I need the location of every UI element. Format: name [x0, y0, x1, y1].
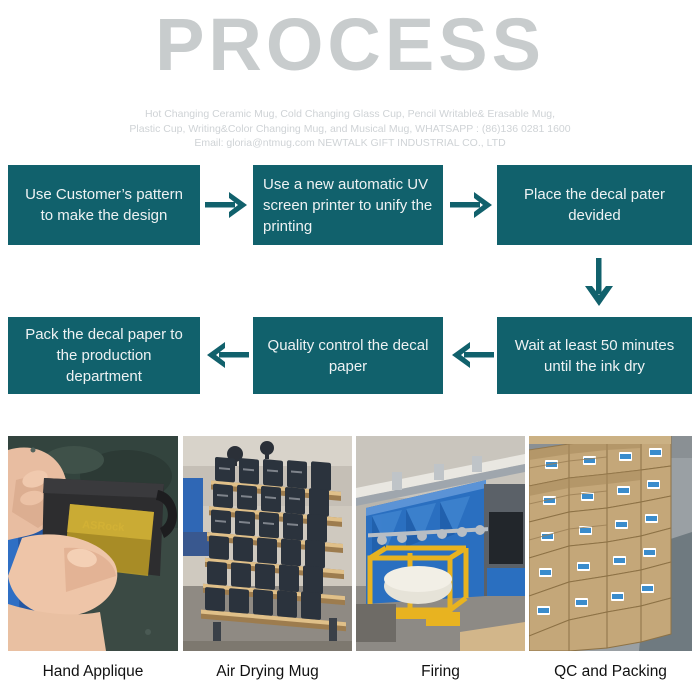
process-step-4-label: Wait at least 50 minutes until the ink d… — [507, 335, 682, 377]
photo-caption-firing: Firing — [356, 660, 525, 684]
process-step-4-box: Wait at least 50 minutes until the ink d… — [497, 317, 692, 394]
photo-air-drying-mug — [183, 436, 352, 651]
contact-info-block: Hot Changing Ceramic Mug, Cold Changing … — [0, 107, 700, 151]
process-step-6-label: Pack the decal paper to the production d… — [18, 324, 190, 387]
contact-products-line-2: Plastic Cup, Writing&Color Changing Mug,… — [0, 122, 700, 137]
contact-email-company-line: Email: gloria@ntmug.com NEWTALK GIFT IND… — [0, 136, 700, 151]
photo-caption-hand-applique: Hand Applique — [8, 660, 178, 684]
photo-caption-qc-and-packing: QC and Packing — [529, 660, 692, 684]
arrow-right-icon — [205, 190, 249, 220]
page-title: PROCESS — [0, 8, 700, 82]
arrow-left-icon — [450, 340, 494, 370]
photo-qc-and-packing — [529, 436, 692, 651]
arrow-left-icon — [205, 340, 249, 370]
process-step-6-box: Pack the decal paper to the production d… — [8, 317, 200, 394]
process-step-3-label: Place the decal pater devided — [507, 184, 682, 226]
photo-caption-air-drying-mug: Air Drying Mug — [183, 660, 352, 684]
process-step-3-box: Place the decal pater devided — [497, 165, 692, 245]
process-step-5-label: Quality control the decal paper — [263, 335, 433, 377]
arrow-down-icon — [582, 258, 616, 308]
process-step-1-box: Use Customer’s pattern to make the desig… — [8, 165, 200, 245]
process-step-1-label: Use Customer’s pattern to make the desig… — [18, 184, 190, 226]
process-step-2-box: Use a new automatic UV screen printer to… — [253, 165, 443, 245]
photo-hand-applique: ASRock — [8, 436, 178, 651]
process-step-2-label: Use a new automatic UV screen printer to… — [263, 174, 433, 237]
arrow-right-icon — [450, 190, 494, 220]
contact-products-line-1: Hot Changing Ceramic Mug, Cold Changing … — [0, 107, 700, 122]
process-step-5-box: Quality control the decal paper — [253, 317, 443, 394]
photo-firing — [356, 436, 525, 651]
